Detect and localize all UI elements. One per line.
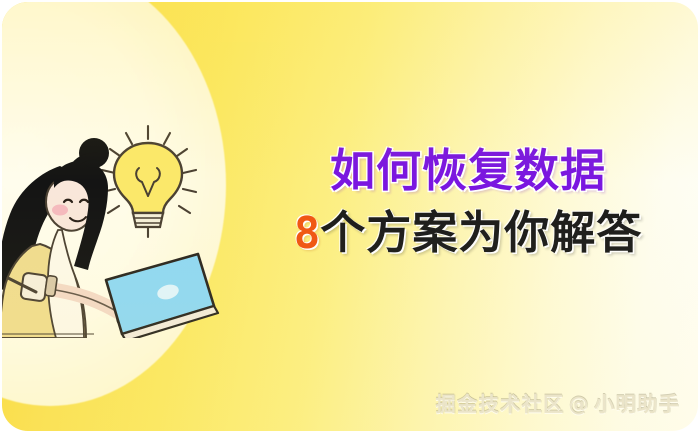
headline-line-2: 8个方案为你解答 (254, 210, 682, 256)
illustration-woman-with-laptop (2, 110, 232, 338)
lightbulb-base (133, 213, 163, 227)
poster-root: 如何恢复数据 8个方案为你解答 掘金技术社区@小明助手 (0, 0, 700, 433)
poster-card: 如何恢复数据 8个方案为你解答 掘金技术社区@小明助手 (2, 2, 698, 431)
headline-line-1: 如何恢复数据 (254, 148, 682, 194)
headline-block: 如何恢复数据 8个方案为你解答 (254, 148, 682, 257)
lightbulb-glass (114, 143, 182, 213)
laptop (106, 254, 218, 338)
watermark-at-symbol: @ (569, 392, 591, 416)
watermark: 掘金技术社区@小明助手 (2, 388, 680, 417)
watermark-community: 掘金技术社区 (436, 392, 565, 416)
woman-blush (52, 205, 68, 216)
headline-line-2-text: 个方案为你解答 (320, 206, 642, 259)
headline-number: 8 (294, 208, 321, 259)
watermark-author: 小明助手 (594, 392, 680, 416)
